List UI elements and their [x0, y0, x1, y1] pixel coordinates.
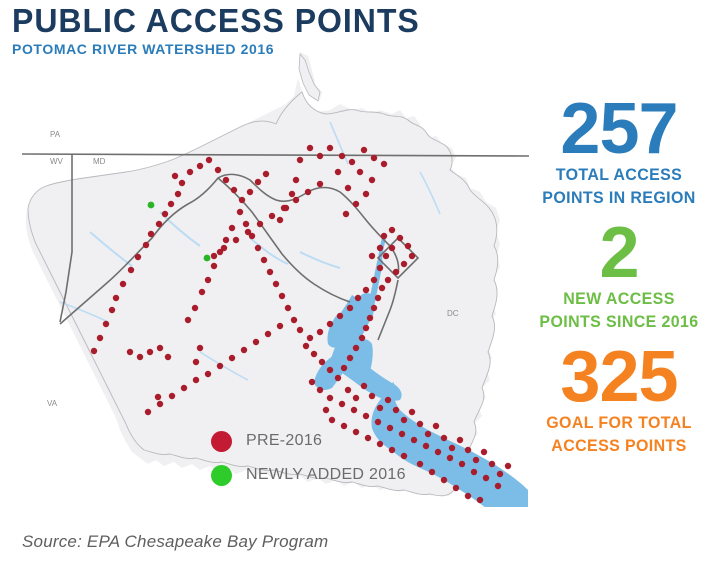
stat-goal-number: 325	[530, 344, 708, 410]
state-label-pa: PA	[50, 130, 61, 139]
legend-item-newly-added-2016: NEWLY ADDED 2016	[211, 458, 406, 492]
map-legend: PRE-2016 NEWLY ADDED 2016	[211, 424, 406, 492]
stat-total-label-line2: POINTS IN REGION	[535, 189, 702, 207]
state-label-wv: WV	[50, 157, 64, 166]
stat-goal-access-points: 325 GOAL FOR TOTAL ACCESS POINTS	[530, 344, 708, 455]
state-label-va: VA	[47, 399, 58, 408]
legend-dot-pre-2016-icon	[211, 431, 232, 452]
state-label-dc: DC	[447, 309, 459, 318]
legend-dot-newly-added-icon	[211, 465, 232, 486]
state-label-md: MD	[93, 157, 106, 166]
stat-new-label-line1: NEW ACCESS	[535, 290, 702, 308]
legend-label-pre-2016: PRE-2016	[246, 432, 322, 450]
header: PUBLIC ACCESS POINTS POTOMAC RIVER WATER…	[12, 4, 432, 57]
stat-total-label-line1: TOTAL ACCESS	[535, 166, 702, 184]
new-point-1	[148, 202, 155, 209]
stat-new-label-line2: POINTS SINCE 2016	[535, 313, 702, 331]
stat-new-access-points: 2 NEW ACCESS POINTS SINCE 2016	[530, 220, 708, 331]
stat-goal-label-line1: GOAL FOR TOTAL	[535, 414, 702, 432]
stat-total-number: 257	[530, 96, 708, 162]
legend-item-pre-2016: PRE-2016	[211, 424, 406, 458]
stat-total-access-points: 257 TOTAL ACCESS POINTS IN REGION	[530, 96, 708, 207]
stat-new-number: 2	[530, 220, 708, 286]
infographic-root: PUBLIC ACCESS POINTS POTOMAC RIVER WATER…	[0, 0, 708, 568]
page-title: PUBLIC ACCESS POINTS	[12, 4, 420, 37]
new-point-2	[204, 255, 211, 262]
source-note: Source: EPA Chesapeake Bay Program	[22, 532, 328, 552]
stats-panel: 257 TOTAL ACCESS POINTS IN REGION 2 NEW …	[530, 96, 708, 468]
stat-goal-label-line2: ACCESS POINTS	[535, 437, 702, 455]
legend-label-newly-added-2016: NEWLY ADDED 2016	[246, 466, 406, 484]
